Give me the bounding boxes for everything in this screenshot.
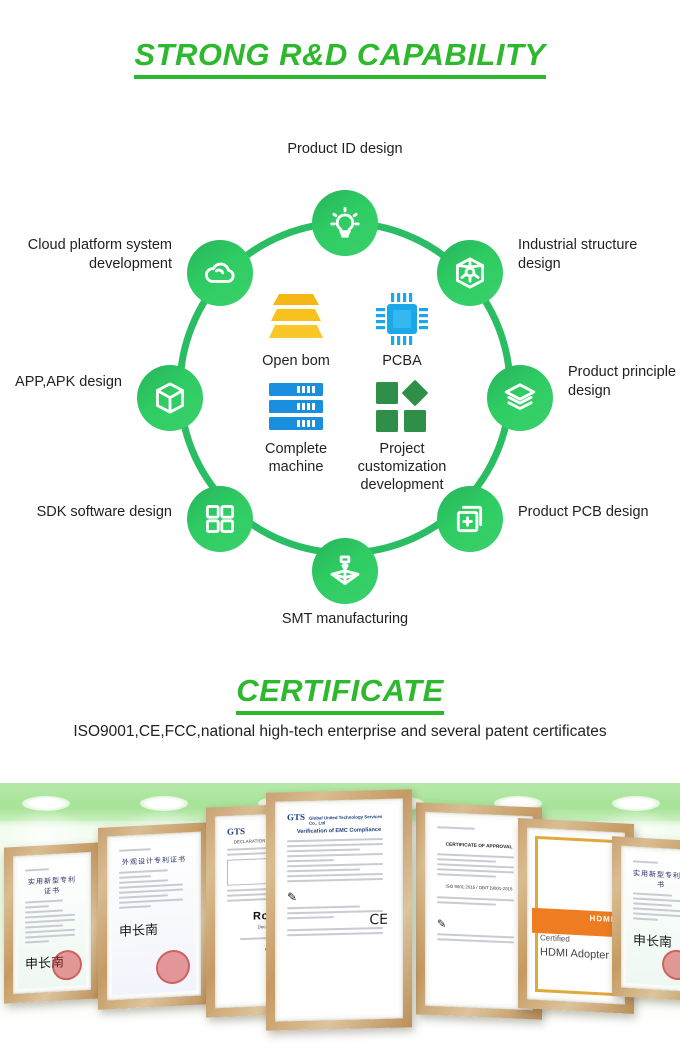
certificate-line1: Global United Technology Services Co., L… <box>309 814 391 826</box>
frame-mat: HDMI Certified HDMI Adopter <box>527 827 625 1004</box>
certificate-mark: CE <box>369 912 388 928</box>
certificate-heading: 实用新型专利证书 <box>633 868 680 891</box>
copy-plus-icon <box>452 501 488 537</box>
smt-printer-icon <box>327 553 363 589</box>
certificate-line2: Verification of EMC Compliance <box>287 827 391 836</box>
node-label-app-apk-design: APP,APK design <box>0 373 122 392</box>
cube-box-icon <box>452 255 488 291</box>
node-label-cloud-platform: Cloud platform system development <box>0 236 172 274</box>
certificate-heading: 外观设计专利证书 <box>119 854 189 868</box>
certificate-paper: 外观设计专利证书 申长南 <box>112 837 196 995</box>
rd-capability-diagram: Product ID design Industrial structure d… <box>0 120 680 650</box>
frame-mat: GTS Global United Technology Services Co… <box>275 798 403 1021</box>
certificate-paper: 实用新型专利证书 申长南 <box>626 851 680 987</box>
certificate-frame[interactable]: 实用新型专利证书 申长南 <box>4 842 100 1003</box>
certificate-seal <box>156 949 190 985</box>
certificate-signature: 申长南 <box>119 917 189 940</box>
center-label-pcba: PCBA <box>382 352 422 370</box>
center-capability-grid: Open bom <box>249 288 449 488</box>
certificate-line1: CERTIFICATE OF APPROVAL <box>437 842 521 851</box>
center-item-pcba[interactable]: PCBA <box>355 288 449 370</box>
chip-icon <box>374 288 430 350</box>
center-label-complete-machine: Complete machine <box>265 440 327 476</box>
node-cloud-platform[interactable] <box>187 240 253 306</box>
certificate-paper: 实用新型专利证书 申长南 <box>18 857 86 989</box>
frame-mat: 实用新型专利证书 申长南 <box>13 852 91 994</box>
center-item-open-bom[interactable]: Open bom <box>249 288 343 370</box>
stacked-trapezoids-icon <box>265 288 327 350</box>
frame-mat: CERTIFICATE OF APPROVAL ISO 9001:2015 / … <box>425 812 533 1011</box>
server-rack-icon <box>267 376 325 438</box>
four-squares-icon <box>202 501 238 537</box>
certificate-photo: 实用新型专利证书 申长南 外观设计专利证书 申长南 <box>0 783 680 1054</box>
lightbulb-icon <box>327 205 363 241</box>
certificate-seal <box>662 949 680 981</box>
node-sdk-software-design[interactable] <box>187 486 253 552</box>
node-label-sdk-software-design: SDK software design <box>0 503 172 522</box>
node-label-smt-manufacturing: SMT manufacturing <box>185 610 505 629</box>
certificate-paper: GTS Global United Technology Services Co… <box>280 804 398 1017</box>
node-label-product-pcb-design: Product PCB design <box>518 503 678 522</box>
certificate-paper: CERTIFICATE OF APPROVAL ISO 9001:2015 / … <box>430 817 528 1005</box>
certificate-frame[interactable]: 外观设计专利证书 申长南 <box>98 822 210 1010</box>
node-label-industrial-structure: Industrial structure design <box>518 236 678 274</box>
certificate-line2: ISO 9001:2015 / GB/T19001-2016 <box>437 883 521 892</box>
certificate-paper: HDMI Certified HDMI Adopter <box>532 833 620 1000</box>
certificate-frame[interactable]: 实用新型专利证书 申长南 <box>612 836 680 1002</box>
certificate-heading: 实用新型专利证书 <box>25 874 79 897</box>
frame-mat: 外观设计专利证书 申长南 <box>107 832 201 1001</box>
certificate-section-title: CERTIFICATE <box>0 673 680 715</box>
frame-mat: 实用新型专利证书 申长南 <box>621 846 680 993</box>
node-app-apk-design[interactable] <box>137 365 203 431</box>
node-smt-manufacturing[interactable] <box>312 538 378 604</box>
node-label-product-principle: Product principle design <box>568 363 680 401</box>
certificate-section-title-text: CERTIFICATE <box>236 673 444 715</box>
node-product-id-design[interactable] <box>312 190 378 256</box>
certificate-subtitle: ISO9001,CE,FCC,national high-tech enterp… <box>0 720 680 744</box>
certificate-signature: 申长南 <box>633 929 680 951</box>
hdmi-brand: HDMI <box>590 913 614 923</box>
center-item-complete-machine[interactable]: Complete machine <box>249 376 343 494</box>
cube-y-icon <box>152 380 188 416</box>
layers-icon <box>502 380 538 416</box>
cloud-icon <box>202 255 238 291</box>
rd-section-title: STRONG R&D CAPABILITY <box>0 37 680 79</box>
certificate-heading: GTS <box>287 812 305 822</box>
center-item-project-customization[interactable]: Project customization development <box>355 376 449 494</box>
squares-diamond-icon <box>373 376 431 438</box>
node-product-pcb-design[interactable] <box>437 486 503 552</box>
center-label-open-bom: Open bom <box>262 352 330 370</box>
certificate-seal <box>52 949 82 981</box>
page-root: STRONG R&D CAPABILITY Product ID design <box>0 0 680 1054</box>
certificate-line1: Certified <box>540 934 570 945</box>
rd-section-title-text: STRONG R&D CAPABILITY <box>134 37 545 79</box>
node-product-principle[interactable] <box>487 365 553 431</box>
center-label-project-customization: Project customization development <box>358 440 447 494</box>
certificate-frame[interactable]: GTS Global United Technology Services Co… <box>266 789 412 1031</box>
node-label-product-id-design: Product ID design <box>185 140 505 159</box>
